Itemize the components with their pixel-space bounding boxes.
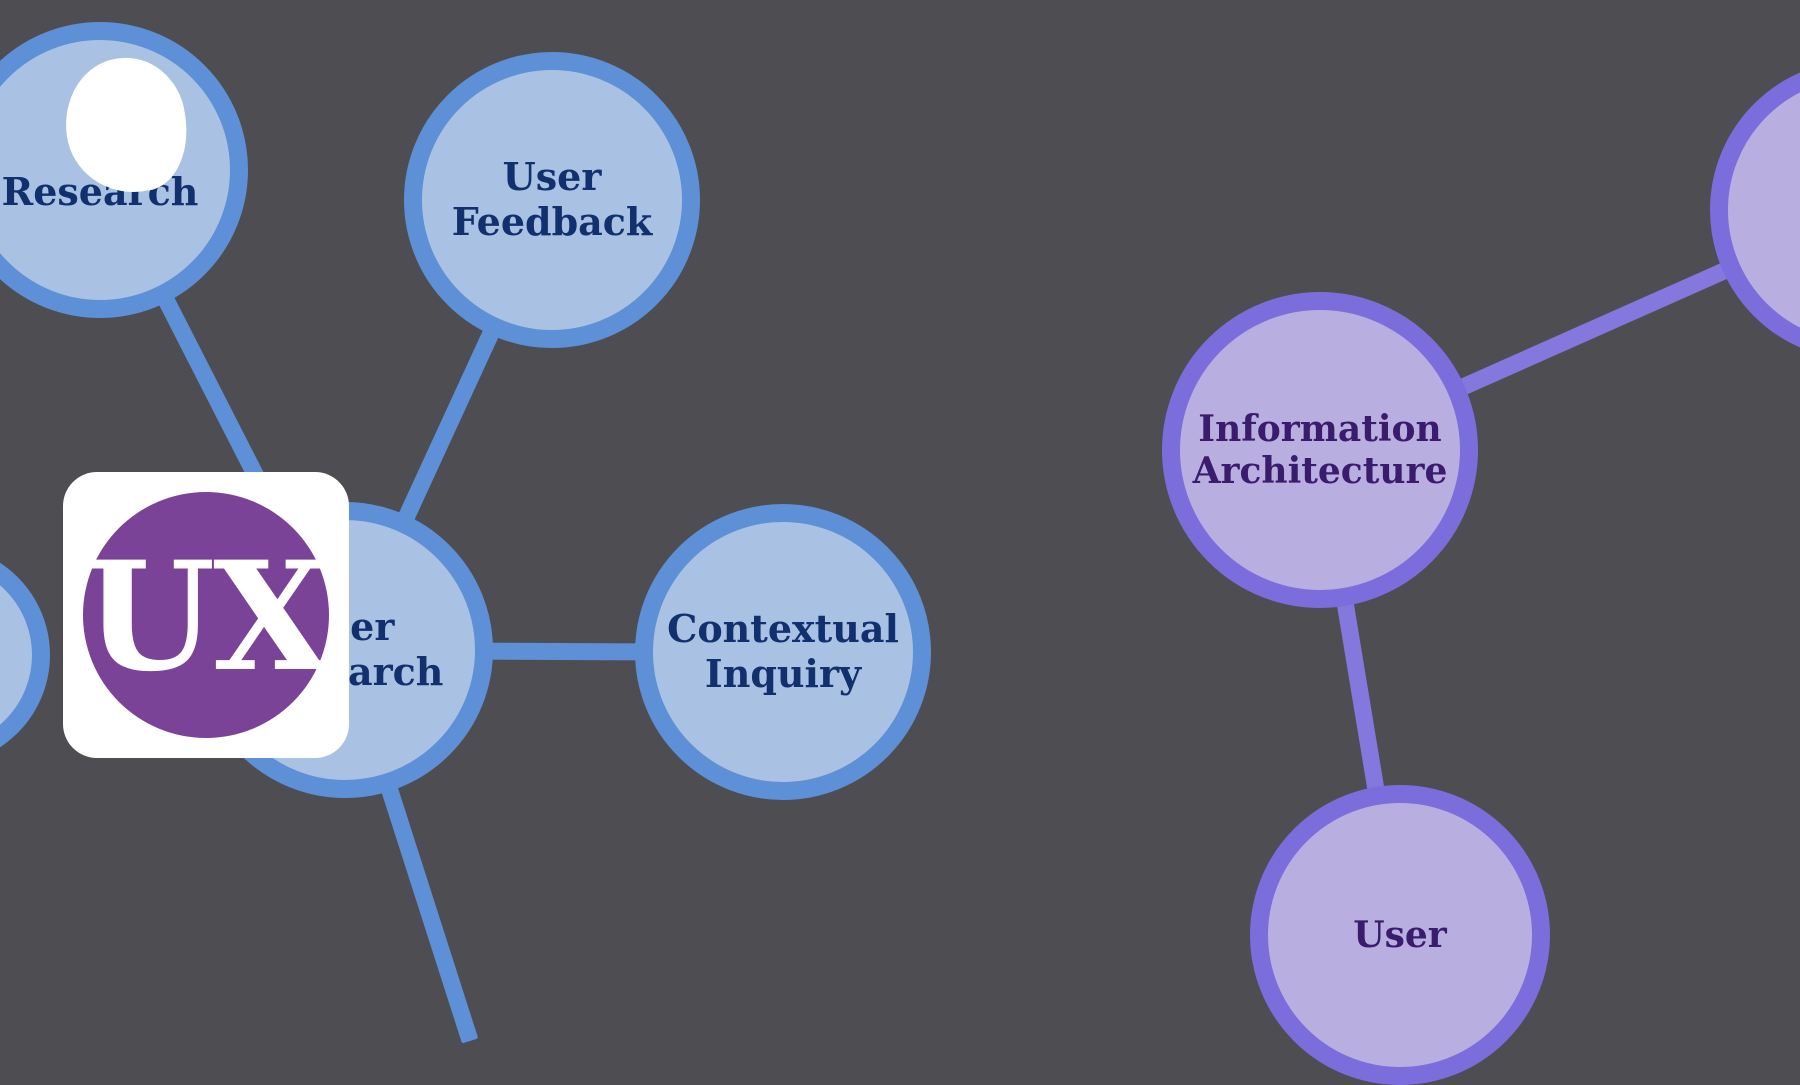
mindmap-node-purple-edge-node[interactable] bbox=[1710, 60, 1800, 360]
node-label: ContextualInquiry bbox=[661, 607, 905, 697]
node-label-line: Feedback bbox=[452, 200, 652, 245]
logo-wordmark: UX bbox=[84, 542, 327, 692]
mindmap-node-user-feedback[interactable]: UserFeedback bbox=[404, 52, 700, 348]
node-label-line: User bbox=[1353, 914, 1447, 956]
node-label: User bbox=[1347, 914, 1453, 956]
ux-brand-logo-card[interactable]: UX bbox=[63, 472, 349, 758]
node-label-line: User bbox=[452, 155, 652, 200]
node-label: InformationArchitecture bbox=[1187, 408, 1454, 493]
node-label-line: Contextual bbox=[667, 607, 899, 652]
mindmap-canvas: UXResearchUserFeedbackUserResearchContex… bbox=[0, 0, 1800, 945]
mindmap-node-information-architecture[interactable]: InformationArchitecture bbox=[1162, 292, 1478, 608]
mindmap-node-user-purple[interactable]: User bbox=[1250, 785, 1550, 1085]
mindmap-node-blue-edge-node[interactable] bbox=[0, 545, 50, 765]
node-label-line: Information bbox=[1193, 408, 1448, 450]
logo-circle: UX bbox=[83, 492, 329, 738]
node-label-line: Architecture bbox=[1193, 450, 1448, 492]
node-label: UserFeedback bbox=[446, 155, 658, 245]
mindmap-node-contextual-inquiry[interactable]: ContextualInquiry bbox=[635, 504, 931, 800]
node-label-line: Inquiry bbox=[667, 652, 899, 697]
